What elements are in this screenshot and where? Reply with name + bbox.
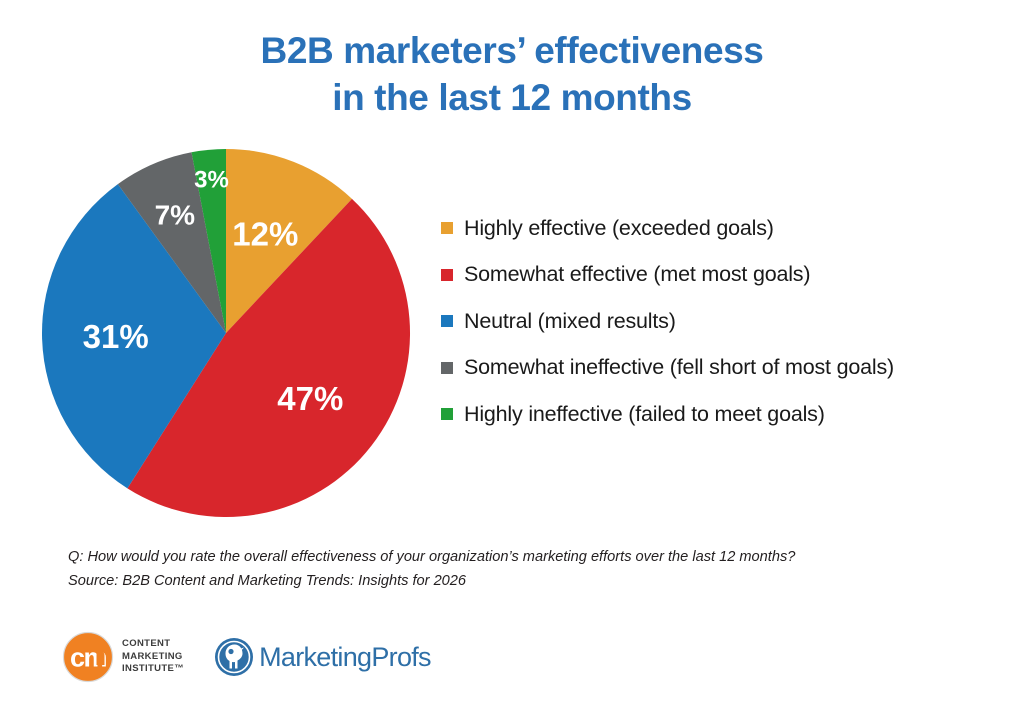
legend-item-label: Somewhat ineffective (fell short of most… [464,357,894,379]
legend-swatch-icon [441,269,453,281]
pie-chart: 12%47%31%7%3% [41,148,411,518]
pie-slice-label: 12% [232,215,298,252]
legend-item[interactable]: Highly effective (exceeded goals) [441,205,1011,252]
legend-item[interactable]: Somewhat ineffective (fell short of most… [441,345,1011,392]
page-title-line-2: in the last 12 months [0,75,1024,122]
legend-item-label: Highly ineffective (failed to meet goals… [464,404,825,426]
legend-item-label: Somewhat effective (met most goals) [464,264,810,286]
pie-slice-label: 7% [155,200,196,231]
marketingprofs-logo: MarketingProfs [214,635,431,679]
pie-slice-label: 3% [194,167,229,194]
legend-item[interactable]: Neutral (mixed results) [441,298,1011,345]
pie-slice-label: 31% [83,318,149,355]
content-marketing-institute-logo: cm CONTENT MARKETING INSTITUTE™ [62,631,184,683]
legend-swatch-icon [441,315,453,327]
page-title: B2B marketers’ effectiveness in the last… [0,28,1024,122]
footnote-source: Source: B2B Content and Marketing Trends… [68,570,968,594]
cmi-wordmark-line-2: MARKETING [122,651,184,664]
marketingprofs-bird-icon [214,637,254,677]
legend-item-label: Neutral (mixed results) [464,311,676,333]
marketingprofs-mark-svg [214,637,254,677]
marketingprofs-wordmark: MarketingProfs [259,644,431,671]
legend-swatch-icon [441,362,453,374]
legend-swatch-icon [441,408,453,420]
page-title-line-1: B2B marketers’ effectiveness [0,28,1024,75]
cmi-mark-svg: cm [62,631,114,683]
cmi-circle-icon: cm [62,631,114,683]
pie-chart-svg: 12%47%31%7%3% [41,148,411,518]
cmi-wordmark-line-1: CONTENT [122,638,184,651]
legend-item-label: Highly effective (exceeded goals) [464,218,774,240]
logo-bar: cm CONTENT MARKETING INSTITUTE™ Marketin… [62,626,431,688]
chart-legend: Highly effective (exceeded goals)Somewha… [441,205,1011,438]
cmi-wordmark: CONTENT MARKETING INSTITUTE™ [122,638,184,676]
footnotes: Q: How would you rate the overall effect… [68,546,968,593]
footnote-question: Q: How would you rate the overall effect… [68,546,968,570]
legend-item[interactable]: Somewhat effective (met most goals) [441,252,1011,299]
cmi-wordmark-line-3: INSTITUTE™ [122,663,184,676]
legend-swatch-icon [441,222,453,234]
pie-slice-label: 47% [277,380,343,417]
legend-item[interactable]: Highly ineffective (failed to meet goals… [441,391,1011,438]
